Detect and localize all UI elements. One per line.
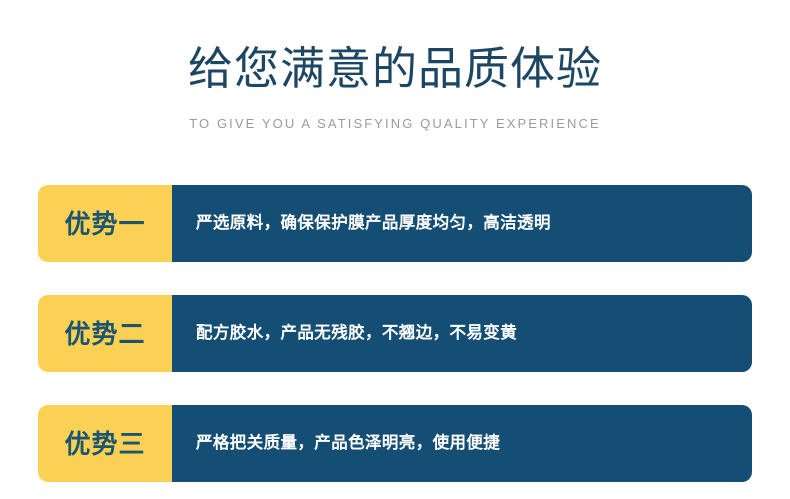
advantage-text-2: 配方胶水，产品无残胶，不翘边，不易变黄 [196,322,517,345]
advantage-badge-label-2: 优势二 [64,321,145,347]
advantage-card-3: 优势三 严格把关质量，产品色泽明亮，使用便捷 [38,405,752,482]
advantage-body-1: 严选原料，确保保护膜产品厚度均匀，高洁透明 [172,185,752,262]
advantage-list: 优势一 严选原料，确保保护膜产品厚度均匀，高洁透明 优势二 配方胶水，产品无残胶… [38,185,752,482]
advantage-badge-label-3: 优势三 [64,431,145,457]
advantage-card-2: 优势二 配方胶水，产品无残胶，不翘边，不易变黄 [38,295,752,372]
promo-banner: 给您满意的品质体验 TO GIVE YOU A SATISFYING QUALI… [0,0,790,499]
advantage-badge-1: 优势一 [38,185,172,262]
advantage-body-3: 严格把关质量，产品色泽明亮，使用便捷 [172,405,752,482]
advantage-body-2: 配方胶水，产品无残胶，不翘边，不易变黄 [172,295,752,372]
advantage-badge-2: 优势二 [38,295,172,372]
advantage-text-1: 严选原料，确保保护膜产品厚度均匀，高洁透明 [196,212,551,235]
advantage-badge-label-1: 优势一 [64,211,145,237]
advantage-card-1: 优势一 严选原料，确保保护膜产品厚度均匀，高洁透明 [38,185,752,262]
advantage-badge-3: 优势三 [38,405,172,482]
header-block: 给您满意的品质体验 TO GIVE YOU A SATISFYING QUALI… [0,0,790,134]
page-subtitle: TO GIVE YOU A SATISFYING QUALITY EXPERIE… [0,114,790,134]
page-title: 给您满意的品质体验 [0,40,790,98]
advantage-text-3: 严格把关质量，产品色泽明亮，使用便捷 [196,432,500,455]
